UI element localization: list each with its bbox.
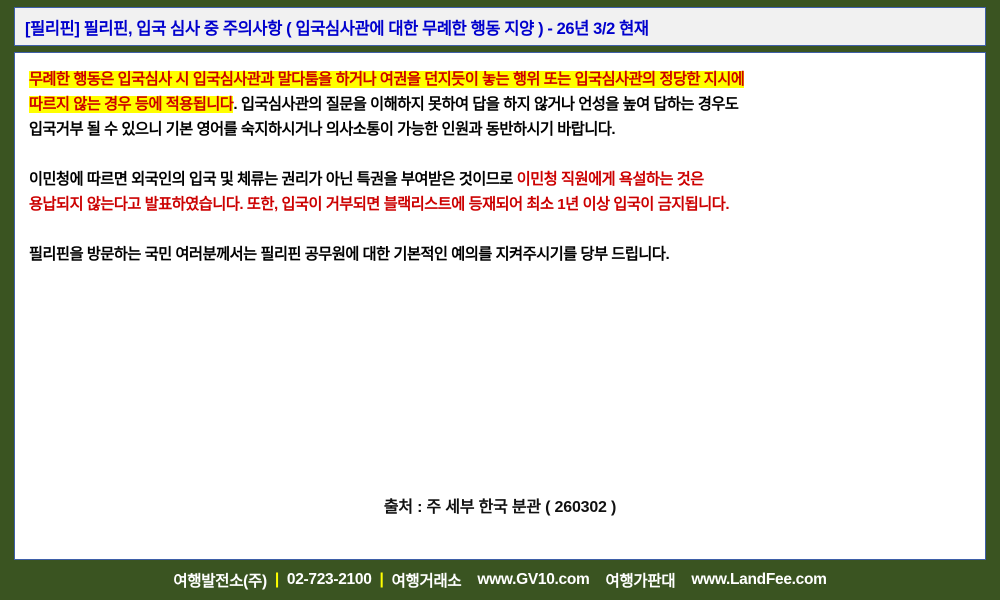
text-line: 무례한 행동은 입국심사 시 입국심사관과 말다툼을 하거나 여권을 던지듯이 …: [29, 67, 973, 92]
paragraph-3: 필리핀을 방문하는 국민 여러분께서는 필리핀 공무원에 대한 기본적인 예의를…: [29, 242, 973, 267]
text-segment-black: 이민청에 따르면 외국인의 입국 및 체류는 권리가 아닌 특권을 부여받은 것…: [29, 171, 517, 188]
footer-label-stand: 여행가판대: [606, 569, 676, 591]
footer-phone[interactable]: 02-723-2100: [287, 571, 372, 589]
footer-content: 여행발전소(주) | 02-723-2100 | 여행거래소 www.GV10.…: [173, 569, 826, 591]
text-line: 필리핀을 방문하는 국민 여러분께서는 필리핀 공무원에 대한 기본적인 예의를…: [29, 242, 973, 267]
footer-link-landfee[interactable]: www.LandFee.com: [691, 571, 826, 589]
text-segment-red: 이민청 직원에게 욕설하는 것은: [517, 171, 704, 188]
paragraph-1: 무례한 행동은 입국심사 시 입국심사관과 말다툼을 하거나 여권을 던지듯이 …: [29, 67, 973, 142]
footer-bar: 여행발전소(주) | 02-723-2100 | 여행거래소 www.GV10.…: [14, 560, 986, 600]
text-line: 용납되지 않는다고 발표하였습니다. 또한, 입국이 거부되면 블랙리스트에 등…: [29, 192, 973, 217]
notice-page: [필리핀] 필리핀, 입국 심사 중 주의사항 ( 입국심사관에 대한 무례한 …: [0, 0, 1000, 600]
text-line: 입국거부 될 수 있으니 기본 영어를 숙지하시거나 의사소통이 가능한 인원과…: [29, 117, 973, 142]
text-segment-black: . 입국심사관의 질문을 이해하지 못하여 답을 하지 않거나 언성을 높여 답…: [233, 96, 738, 113]
text-segment-black: 입국거부 될 수 있으니 기본 영어를 숙지하시거나 의사소통이 가능한 인원과…: [29, 121, 615, 138]
text-line: 이민청에 따르면 외국인의 입국 및 체류는 권리가 아닌 특권을 부여받은 것…: [29, 167, 973, 192]
footer-company: 여행발전소(주): [173, 569, 266, 591]
footer-label-market: 여행거래소: [392, 569, 462, 591]
footer-separator-1: |: [267, 571, 287, 589]
text-segment-red: 용납되지 않는다고 발표하였습니다. 또한, 입국이 거부되면 블랙리스트에 등…: [29, 196, 729, 213]
page-title: [필리핀] 필리핀, 입국 심사 중 주의사항 ( 입국심사관에 대한 무례한 …: [25, 15, 649, 39]
content-box: 무례한 행동은 입국심사 시 입국심사관과 말다툼을 하거나 여권을 던지듯이 …: [14, 52, 986, 560]
text-segment-highlight: 따르지 않는 경우 등에 적용됩니다: [29, 96, 233, 113]
footer-link-gv10[interactable]: www.GV10.com: [477, 571, 589, 589]
paragraph-2: 이민청에 따르면 외국인의 입국 및 체류는 권리가 아닌 특권을 부여받은 것…: [29, 167, 973, 217]
text-segment-highlight: 무례한 행동은 입국심사 시 입국심사관과 말다툼을 하거나 여권을 던지듯이 …: [29, 71, 744, 88]
footer-separator-2: |: [372, 571, 392, 589]
notice-body: 무례한 행동은 입국심사 시 입국심사관과 말다툼을 하거나 여권을 던지듯이 …: [29, 67, 973, 267]
text-segment-black: 필리핀을 방문하는 국민 여러분께서는 필리핀 공무원에 대한 기본적인 예의를…: [29, 246, 669, 263]
source-attribution: 출처 : 주 세부 한국 분관 ( 260302 ): [15, 493, 985, 517]
text-line: 따르지 않는 경우 등에 적용됩니다. 입국심사관의 질문을 이해하지 못하여 …: [29, 92, 973, 117]
title-bar: [필리핀] 필리핀, 입국 심사 중 주의사항 ( 입국심사관에 대한 무례한 …: [14, 7, 986, 46]
